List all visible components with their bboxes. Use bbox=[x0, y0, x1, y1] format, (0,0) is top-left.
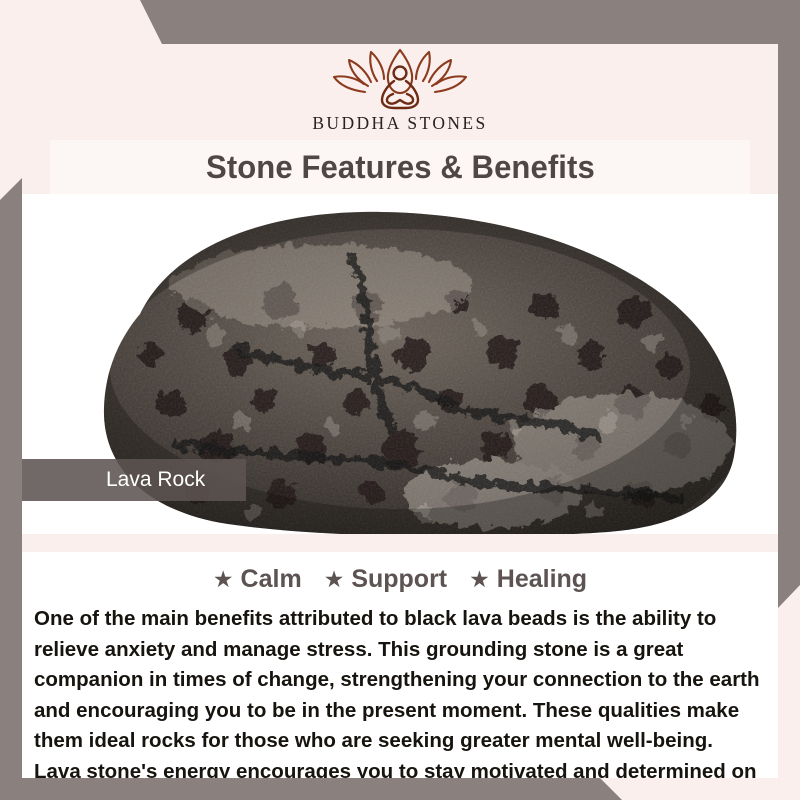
brand-logo: BUDDHA STONES bbox=[22, 44, 778, 139]
star-icon: ★ bbox=[469, 568, 490, 591]
benefit-item-support: ★ Support bbox=[324, 565, 447, 594]
description-panel: ★ Calm ★ Support ★ Healing One of the ma… bbox=[22, 552, 778, 778]
brand-name: BUDDHA STONES bbox=[312, 113, 487, 134]
image-caption-label: Lava Rock bbox=[106, 468, 205, 492]
product-info-poster: BUDDHA STONES Stone Features & Benefits bbox=[0, 0, 800, 800]
hero-image-area: Lava Rock bbox=[22, 194, 778, 534]
benefit-item-calm: ★ Calm bbox=[213, 565, 302, 594]
title-banner: Stone Features & Benefits bbox=[50, 140, 750, 194]
star-icon: ★ bbox=[213, 568, 234, 591]
section-divider bbox=[22, 534, 778, 552]
lotus-meditation-figure-icon bbox=[325, 46, 475, 112]
content-card: BUDDHA STONES Stone Features & Benefits bbox=[22, 44, 778, 778]
star-icon: ★ bbox=[324, 568, 345, 591]
benefit-label: Healing bbox=[497, 565, 587, 594]
page-title: Stone Features & Benefits bbox=[206, 149, 595, 186]
benefit-label: Calm bbox=[241, 565, 302, 594]
benefit-label: Support bbox=[351, 565, 447, 594]
benefit-tag-row: ★ Calm ★ Support ★ Healing bbox=[22, 552, 778, 602]
image-caption-chip: Lava Rock bbox=[22, 459, 246, 501]
description-text: One of the main benefits attributed to b… bbox=[34, 604, 764, 778]
benefit-item-healing: ★ Healing bbox=[469, 565, 587, 594]
